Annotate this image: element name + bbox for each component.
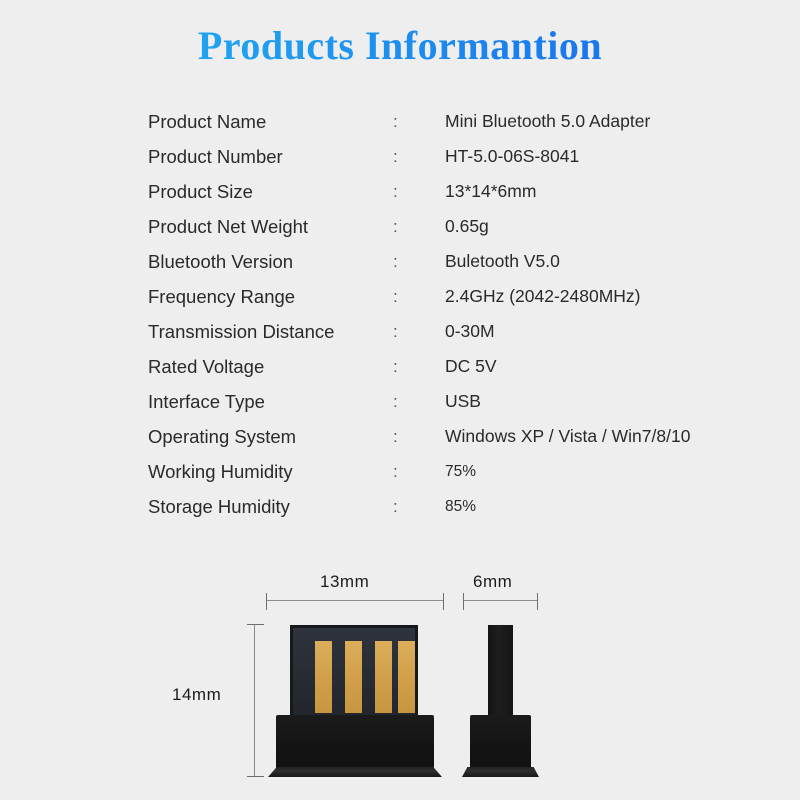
spec-value: Buletooth V5.0 — [445, 244, 560, 279]
spec-value: Mini Bluetooth 5.0 Adapter — [445, 104, 650, 139]
spec-label: Bluetooth Version — [148, 244, 293, 279]
spec-separator: : — [393, 139, 398, 174]
usb-contact-pin — [345, 641, 362, 713]
spec-row-rated-voltage: Rated Voltage : DC 5V — [148, 349, 708, 384]
spec-separator: : — [393, 279, 398, 314]
spec-value: Windows XP / Vista / Win7/8/10 — [445, 419, 690, 454]
spec-value: 75% — [445, 454, 476, 489]
dimension-line-width — [266, 600, 444, 601]
spec-row-storage-humidity: Storage Humidity : 85% — [148, 489, 708, 524]
page-title: Products Informantion — [0, 22, 800, 69]
spec-row-interface-type: Interface Type : USB — [148, 384, 708, 419]
adapter-front-base-flare — [268, 767, 442, 777]
spec-separator: : — [393, 489, 398, 524]
spec-label: Operating System — [148, 419, 296, 454]
spec-row-product-net-weight: Product Net Weight : 0.65g — [148, 209, 708, 244]
spec-row-working-humidity: Working Humidity : 75% — [148, 454, 708, 489]
spec-label: Product Name — [148, 104, 266, 139]
spec-value: 0.65g — [445, 209, 489, 244]
usb-connector-side-tongue — [488, 625, 513, 717]
dimension-tick-width-left — [266, 593, 267, 610]
spec-value: 85% — [445, 489, 476, 524]
spec-separator: : — [393, 209, 398, 244]
spec-separator: : — [393, 454, 398, 489]
spec-row-transmission-distance: Transmission Distance : 0-30M — [148, 314, 708, 349]
spec-separator: : — [393, 349, 398, 384]
spec-label: Interface Type — [148, 384, 265, 419]
spec-label: Working Humidity — [148, 454, 293, 489]
dimension-tick-height-top — [247, 624, 264, 625]
usb-contact-pin — [398, 641, 415, 713]
spec-value: 2.4GHz (2042-2480MHz) — [445, 279, 641, 314]
product-spec-table: Product Name : Mini Bluetooth 5.0 Adapte… — [148, 104, 708, 524]
spec-value: HT-5.0-06S-8041 — [445, 139, 579, 174]
dimension-tick-width-right — [443, 593, 444, 610]
spec-label: Product Size — [148, 174, 253, 209]
usb-contact-pin — [375, 641, 392, 713]
usb-connector-front-body — [290, 625, 418, 717]
dimension-tick-depth-left — [463, 593, 464, 610]
spec-separator: : — [393, 419, 398, 454]
usb-contact-pin — [315, 641, 332, 713]
spec-label: Product Net Weight — [148, 209, 308, 244]
spec-label: Rated Voltage — [148, 349, 264, 384]
dimension-tick-height-bottom — [247, 776, 264, 777]
dimension-line-depth — [463, 600, 538, 601]
dimension-label-depth: 6mm — [473, 572, 512, 592]
dimension-label-height: 14mm — [172, 685, 221, 705]
spec-separator: : — [393, 244, 398, 279]
spec-separator: : — [393, 384, 398, 419]
spec-row-frequency-range: Frequency Range : 2.4GHz (2042-2480MHz) — [148, 279, 708, 314]
spec-value: DC 5V — [445, 349, 497, 384]
spec-row-operating-system: Operating System : Windows XP / Vista / … — [148, 419, 708, 454]
dimension-label-width: 13mm — [320, 572, 369, 592]
spec-label: Product Number — [148, 139, 283, 174]
spec-row-bluetooth-version: Bluetooth Version : Buletooth V5.0 — [148, 244, 708, 279]
spec-row-product-size: Product Size : 13*14*6mm — [148, 174, 708, 209]
spec-row-product-number: Product Number : HT-5.0-06S-8041 — [148, 139, 708, 174]
spec-separator: : — [393, 104, 398, 139]
adapter-front-housing — [276, 715, 434, 773]
spec-value: USB — [445, 384, 481, 419]
dimension-tick-depth-right — [537, 593, 538, 610]
dimension-line-height — [254, 624, 255, 776]
spec-value: 13*14*6mm — [445, 174, 536, 209]
spec-label: Storage Humidity — [148, 489, 290, 524]
spec-label: Frequency Range — [148, 279, 295, 314]
spec-row-product-name: Product Name : Mini Bluetooth 5.0 Adapte… — [148, 104, 708, 139]
spec-value: 0-30M — [445, 314, 495, 349]
adapter-side-base-flare — [462, 767, 539, 777]
adapter-side-housing — [470, 715, 531, 773]
spec-separator: : — [393, 314, 398, 349]
spec-separator: : — [393, 174, 398, 209]
spec-label: Transmission Distance — [148, 314, 334, 349]
